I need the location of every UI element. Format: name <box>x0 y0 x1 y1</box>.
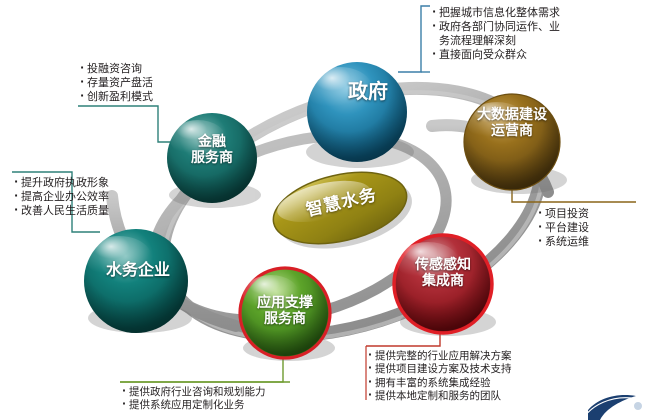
callout-government-item-2: 政府各部门协同运作、业 <box>432 20 560 34</box>
callout-sensor-item-1: 提供完整的行业应用解决方案 <box>368 350 512 363</box>
callout-sensor-integrator: 提供完整的行业应用解决方案 提供项目建设方案及技术支持 拥有丰富的系统集成经验 … <box>368 350 512 404</box>
node-label-finance: 金融 服务商 <box>162 134 262 166</box>
callout-sensor-item-4: 提供本地定制和服务的团队 <box>368 390 512 403</box>
callout-government-item-3: 直接面向受众群众 <box>432 48 560 62</box>
callout-benefits-item-3: 改善人民生活质量 <box>14 204 109 218</box>
callout-sensor-item-2: 提供项目建设方案及技术支持 <box>368 363 512 376</box>
callout-government-item-2-cont: 务流程理解深刻 <box>432 34 560 48</box>
callout-application-support-item-2: 提供系统应用定制化业务 <box>122 399 266 412</box>
callout-sensor-item-3: 拥有丰富的系统集成经验 <box>368 377 512 390</box>
node-label-application-support-line2: 服务商 <box>230 311 340 327</box>
diagram-canvas: 政府 大数据建设 运营商 金融 服务商 水务企业 应用支撑 服务商 传感感知 集… <box>0 0 660 420</box>
node-label-finance-line2: 服务商 <box>162 150 262 166</box>
node-label-bigdata: 大数据建设 运营商 <box>452 107 572 139</box>
node-label-sensor-integrator-line1: 传感感知 <box>415 257 471 273</box>
callout-finance-item-3: 创新盈利模式 <box>80 90 153 104</box>
text-layer: 政府 大数据建设 运营商 金融 服务商 水务企业 应用支撑 服务商 传感感知 集… <box>0 0 660 420</box>
callout-finance: 投融资咨询 存量资产盘活 创新盈利模式 <box>80 62 153 104</box>
node-label-government-line1: 政府 <box>348 79 388 103</box>
callout-government: 把握城市信息化整体需求 政府各部门协同运作、业 务流程理解深刻 直接面向受众群众 <box>432 6 560 62</box>
node-label-water-enterprise: 水务企业 <box>78 261 198 280</box>
callout-application-support: 提供政府行业咨询和规划能力 提供系统应用定制化业务 <box>122 386 266 413</box>
callout-bigdata-item-3: 系统运维 <box>538 235 589 249</box>
node-label-application-support-line1: 应用支撑 <box>257 295 313 311</box>
node-label-bigdata-line2: 运营商 <box>452 123 572 139</box>
node-label-government: 政府 <box>318 80 418 103</box>
node-label-center-smart-water: 智慧水务 <box>280 175 403 226</box>
callout-finance-item-1: 投融资咨询 <box>80 62 153 76</box>
callout-bigdata: 项目投资 平台建设 系统运维 <box>538 207 589 249</box>
callout-government-item-1: 把握城市信息化整体需求 <box>432 6 560 20</box>
callout-bigdata-item-2: 平台建设 <box>538 221 589 235</box>
callout-benefits: 提升政府执政形象 提高企业办公效率 改善人民生活质量 <box>14 176 109 218</box>
node-label-application-support: 应用支撑 服务商 <box>230 295 340 327</box>
node-label-sensor-integrator: 传感感知 集成商 <box>388 257 498 289</box>
callout-application-support-item-1: 提供政府行业咨询和规划能力 <box>122 386 266 399</box>
company-logo-icon <box>588 390 660 420</box>
node-label-bigdata-line1: 大数据建设 <box>477 107 547 123</box>
callout-benefits-item-1: 提升政府执政形象 <box>14 176 109 190</box>
node-label-sensor-integrator-line2: 集成商 <box>388 273 498 289</box>
callout-finance-item-2: 存量资产盘活 <box>80 76 153 90</box>
node-label-finance-line1: 金融 <box>198 134 226 150</box>
callout-benefits-item-2: 提高企业办公效率 <box>14 190 109 204</box>
node-label-water-enterprise-line1: 水务企业 <box>106 260 170 279</box>
callout-bigdata-item-1: 项目投资 <box>538 207 589 221</box>
